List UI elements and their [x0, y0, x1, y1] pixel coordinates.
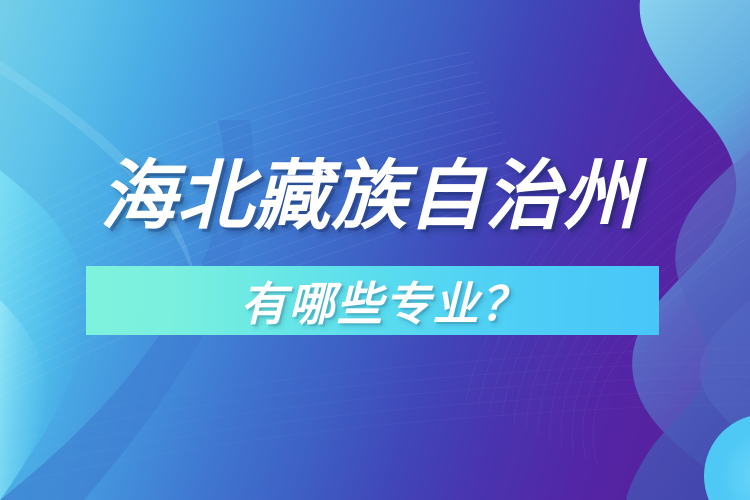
- banner-image: 海北藏族自治州 有哪些专业？: [0, 0, 750, 500]
- main-title: 海北藏族自治州: [100, 152, 660, 242]
- banner-content: 海北藏族自治州 有哪些专业？: [0, 0, 750, 500]
- subtitle-text: 有哪些专业？: [86, 266, 659, 335]
